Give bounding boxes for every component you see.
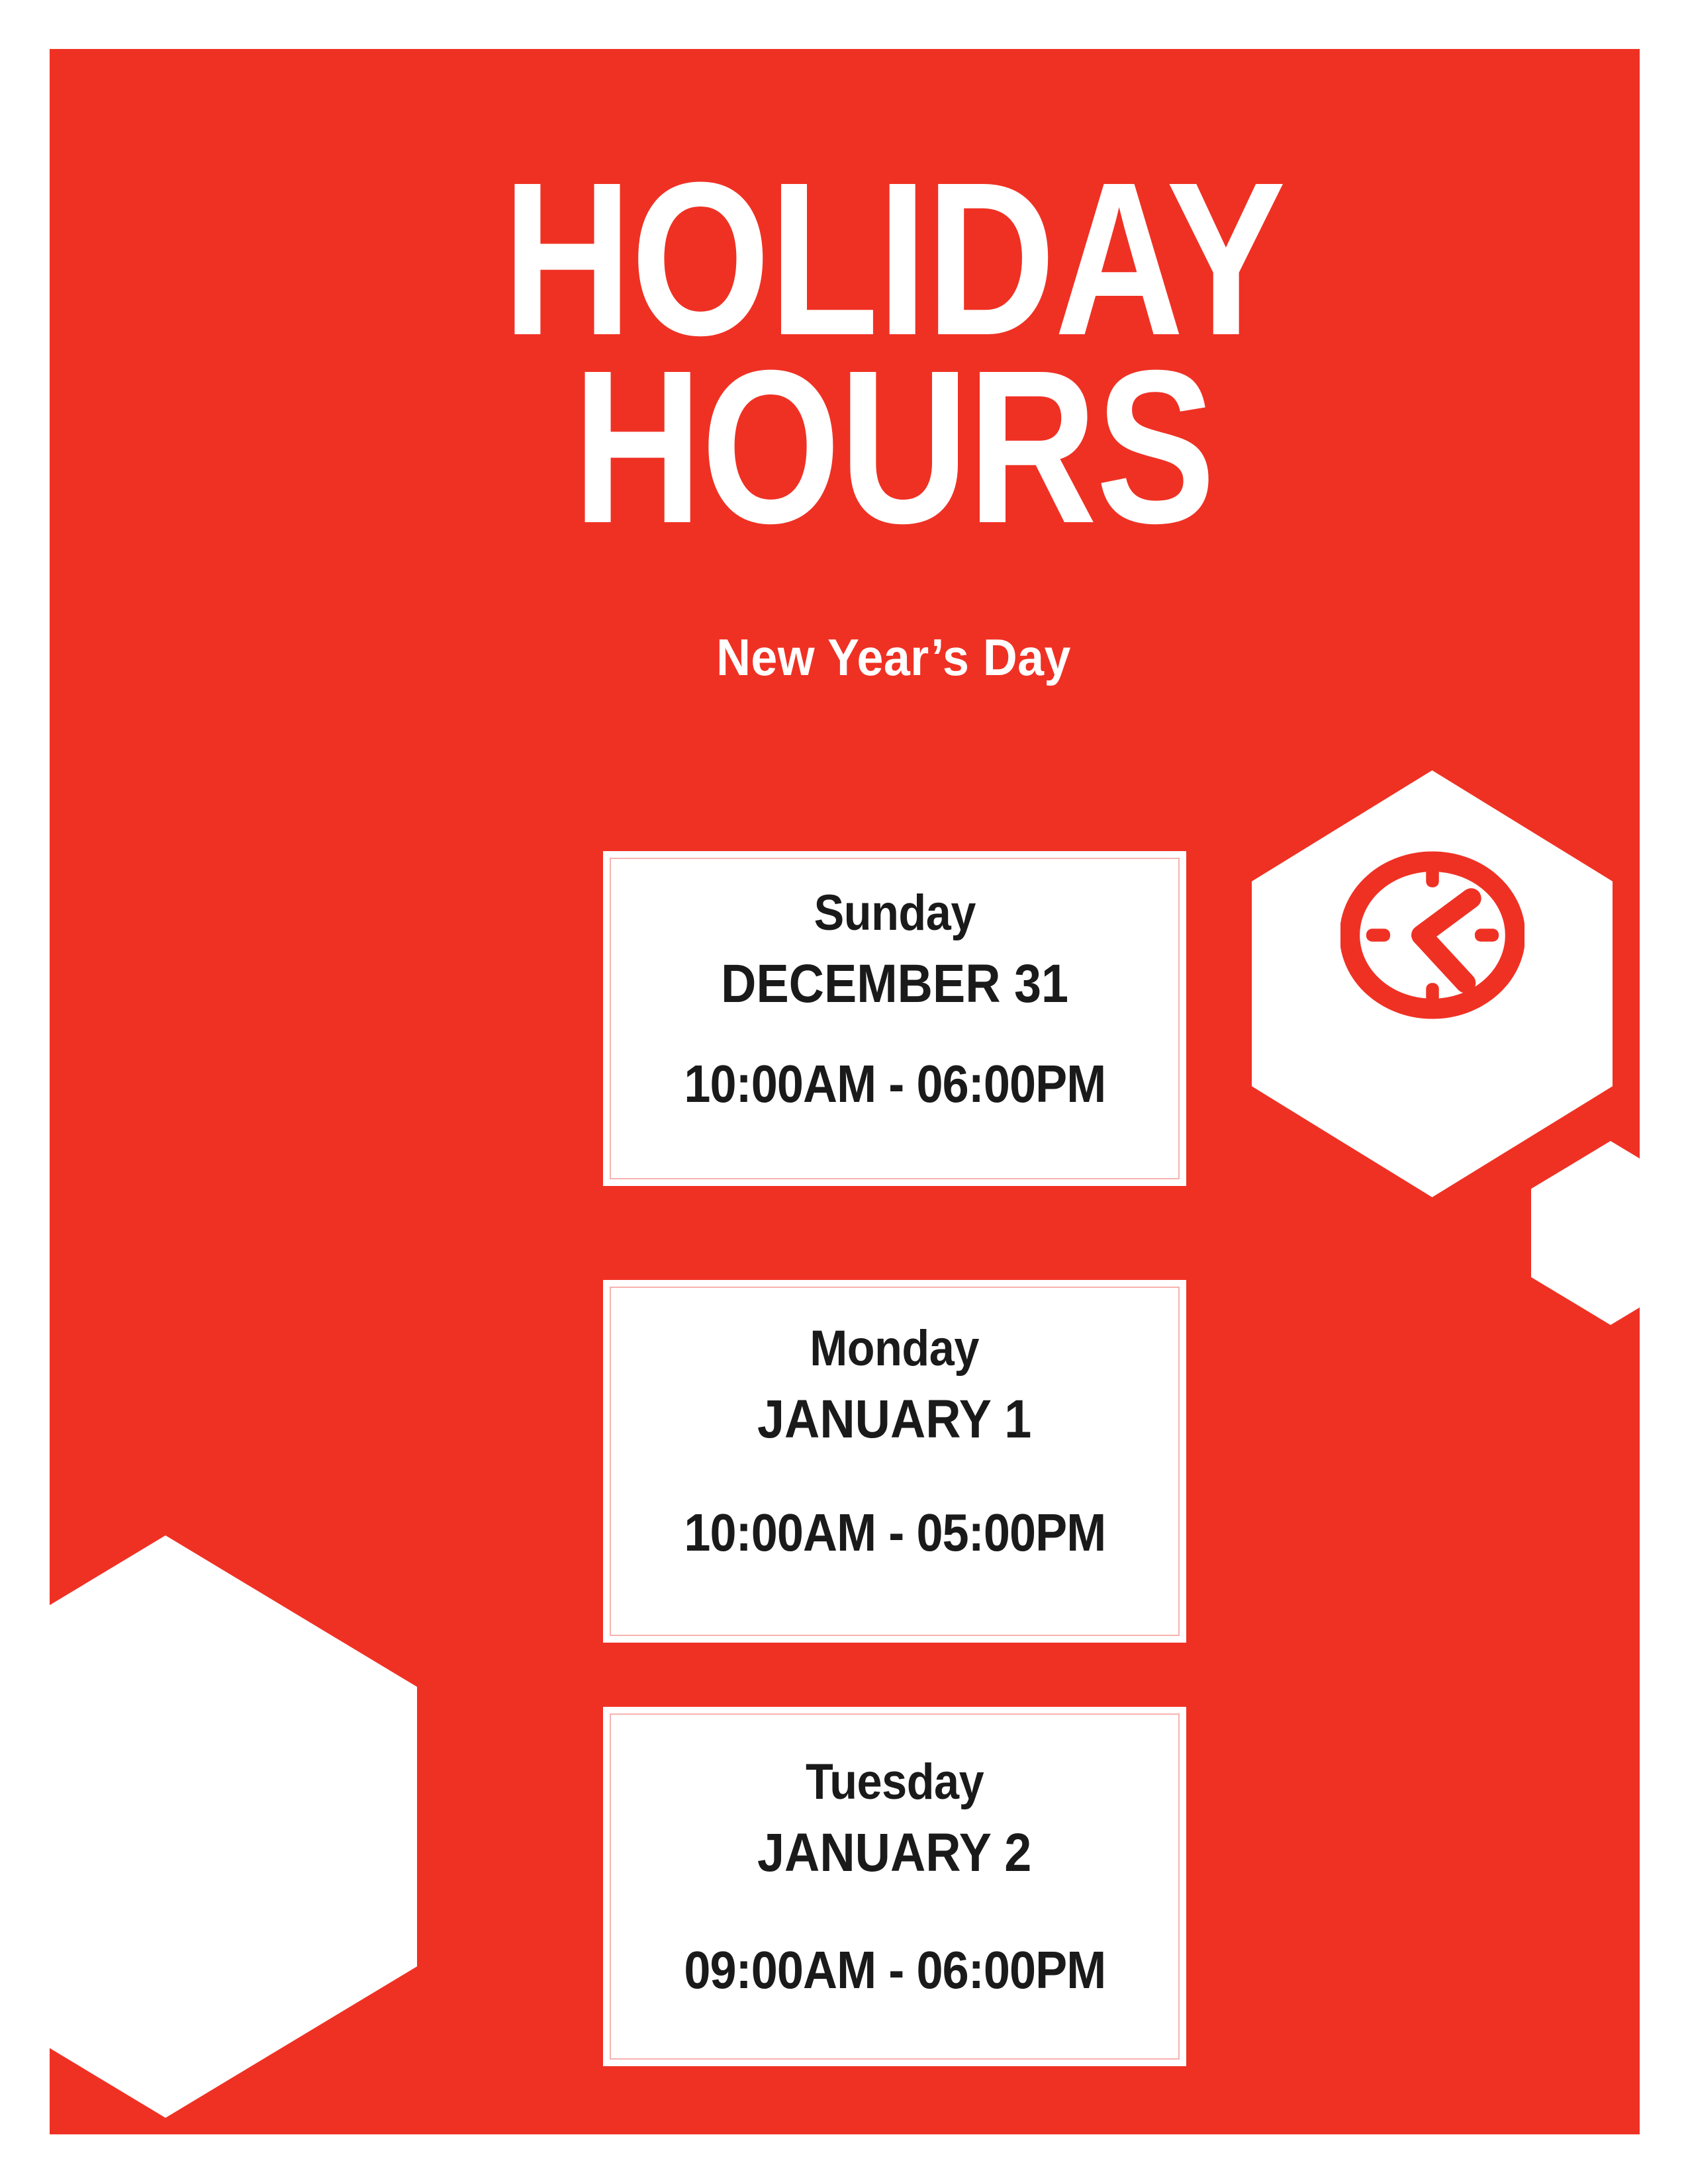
title-line-hours: HOURS: [277, 353, 1509, 541]
schedule-date: JANUARY 1: [757, 1391, 1031, 1448]
red-background-panel: HOLIDAY HOURS New Year’s Day Sunday DECE…: [50, 49, 1640, 2134]
schedule-hours: 10:00AM - 06:00PM: [684, 1056, 1105, 1112]
poster-subtitle: New Year’s Day: [203, 631, 1585, 683]
schedule-date: JANUARY 2: [757, 1825, 1031, 1882]
schedule-hours: 10:00AM - 05:00PM: [684, 1505, 1105, 1561]
hexagon-decoration-bottom-left: [50, 1535, 417, 2118]
schedule-weekday: Tuesday: [806, 1756, 984, 1809]
schedule-card: Tuesday JANUARY 2 09:00AM - 06:00PM: [603, 1707, 1186, 2066]
schedule-card: Sunday DECEMBER 31 10:00AM - 06:00PM: [603, 851, 1186, 1186]
schedule-card: Monday JANUARY 1 10:00AM - 05:00PM: [603, 1280, 1186, 1643]
schedule-weekday: Sunday: [814, 887, 975, 940]
schedule-card-inner: Tuesday JANUARY 2 09:00AM - 06:00PM: [610, 1713, 1180, 2060]
schedule-hours: 09:00AM - 06:00PM: [684, 1942, 1105, 1998]
clock-icon: [1340, 843, 1524, 1027]
schedule-card-inner: Sunday DECEMBER 31 10:00AM - 06:00PM: [610, 858, 1180, 1179]
schedule-date: DECEMBER 31: [721, 956, 1068, 1013]
schedule-weekday: Monday: [810, 1322, 980, 1375]
hexagon-decoration-accent: [1531, 1141, 1640, 1325]
holiday-hours-poster: HOLIDAY HOURS New Year’s Day Sunday DECE…: [0, 0, 1688, 2184]
schedule-card-inner: Monday JANUARY 1 10:00AM - 05:00PM: [610, 1287, 1180, 1636]
poster-title: HOLIDAY HOURS: [142, 165, 1640, 541]
